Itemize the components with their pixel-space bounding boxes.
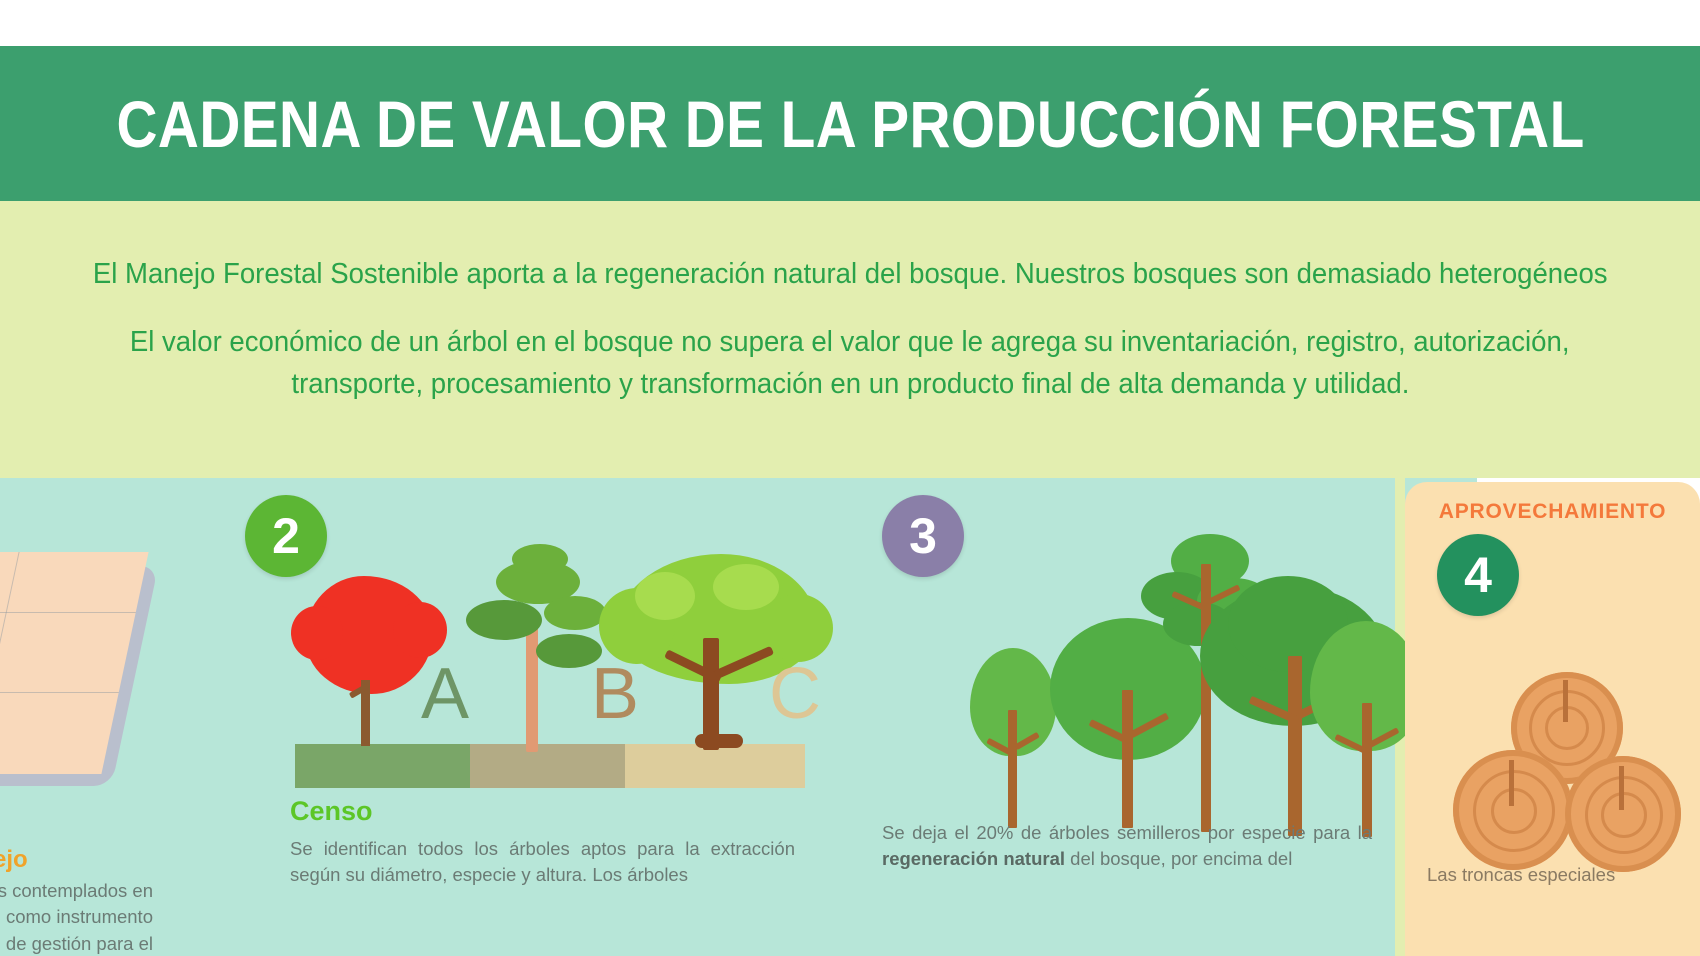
tree-a-crown bbox=[305, 576, 433, 694]
step-3-body-line-2: del bosque, por encima del bbox=[1065, 848, 1292, 869]
forest-cluster-illustration bbox=[860, 526, 1405, 826]
log-round bbox=[1453, 750, 1573, 870]
intro-paragraph-2-line-2: transporte, procesamiento y transformaci… bbox=[0, 363, 1700, 405]
forest-tree-trunk bbox=[1122, 690, 1133, 828]
step-3-body-highlight: regeneración natural bbox=[882, 848, 1065, 869]
intro-paragraph-2-line-1-text: El valor económico de un árbol en el bos… bbox=[130, 321, 1570, 363]
stacked-logs-illustration bbox=[1453, 672, 1700, 852]
step-1-title: Plan de Manejo bbox=[0, 846, 28, 874]
log-ring bbox=[1601, 792, 1647, 838]
intro-paragraph-1-text: El Manejo Forestal Sostenible aporta a l… bbox=[93, 253, 1608, 295]
title-banner: CADENA DE VALOR DE LA PRODUCCIÓN FORESTA… bbox=[0, 46, 1700, 201]
log-ring bbox=[1491, 788, 1537, 834]
log-round bbox=[1565, 756, 1681, 872]
step-3-body-line-1: Se deja el 20% de árboles semilleros por… bbox=[882, 822, 1372, 843]
page-title-text: CADENA DE VALOR DE LA PRODUCCIÓN FORESTA… bbox=[117, 86, 1585, 162]
step-4-header: APROVECHAMIENTO bbox=[1405, 500, 1700, 524]
plot-grid-line bbox=[0, 552, 20, 774]
step-3-body: Se deja el 20% de árboles semilleros por… bbox=[882, 820, 1372, 873]
step-4-body: Las troncas especiales bbox=[1427, 862, 1685, 888]
intro-spacer bbox=[0, 295, 1700, 321]
plot-grid-line bbox=[0, 612, 136, 613]
step-4-body-line-2: especiales bbox=[1528, 864, 1615, 885]
page-title: CADENA DE VALOR DE LA PRODUCCIÓN FORESTA… bbox=[0, 86, 1700, 162]
intro-paragraph-2-line-2-text: transporte, procesamiento y transformaci… bbox=[291, 363, 1409, 405]
tree-b-foliage bbox=[544, 596, 606, 630]
log-crack bbox=[1509, 760, 1514, 806]
tree-b-trunk bbox=[526, 616, 538, 752]
forest-tree-trunk bbox=[1008, 710, 1017, 828]
three-trees-illustration: A B C bbox=[245, 538, 815, 788]
step-4-badge: 4 bbox=[1437, 534, 1519, 616]
step-4-aprovechamiento-card[interactable]: APROVECHAMIENTO 4 Las troncas especiales bbox=[1405, 482, 1700, 956]
plot-map-illustration bbox=[0, 500, 205, 800]
plot-grid-line bbox=[0, 692, 119, 693]
intro-paragraph-1: El Manejo Forestal Sostenible aporta a l… bbox=[0, 253, 1700, 295]
step-2-body: Se identifican todos los árboles aptos p… bbox=[290, 836, 795, 889]
forest-tree bbox=[970, 648, 1060, 828]
step-2-censo[interactable]: 2 A B bbox=[245, 478, 815, 956]
tree-c-root bbox=[695, 734, 743, 748]
log-crack bbox=[1563, 680, 1568, 722]
forest-tree-trunk bbox=[1288, 656, 1302, 836]
log-crack bbox=[1619, 766, 1624, 810]
ground-band-a bbox=[295, 744, 470, 788]
step-1-body-line-2: Forestal como instrumento técnico de ges… bbox=[0, 906, 153, 953]
infographic-canvas: CADENA DE VALOR DE LA PRODUCCIÓN FORESTA… bbox=[0, 0, 1700, 956]
tree-b-foliage bbox=[512, 544, 568, 574]
forest-tree-trunk bbox=[1362, 703, 1372, 837]
step-4-body-line-1: Las troncas bbox=[1427, 864, 1523, 885]
step-1-plan-de-manejo[interactable]: Plan de Manejo Son los requisitos contem… bbox=[0, 478, 205, 956]
intro-paragraph-2-line-1: El valor económico de un árbol en el bos… bbox=[0, 321, 1700, 363]
step-1-body: Son los requisitos contemplados en la Le… bbox=[0, 878, 153, 956]
tree-c-highlight bbox=[713, 564, 779, 610]
intro-band: El Manejo Forestal Sostenible aporta a l… bbox=[0, 201, 1700, 478]
step-2-title: Censo bbox=[290, 796, 373, 827]
tree-label-c: C bbox=[769, 658, 821, 730]
top-white-strip bbox=[0, 0, 1700, 46]
intro-text-block: El Manejo Forestal Sostenible aporta a l… bbox=[0, 253, 1700, 405]
tree-c-highlight bbox=[635, 572, 695, 620]
step-2-body-line-1: Se identifican todos los árboles aptos p… bbox=[290, 838, 795, 859]
step-2-body-line-2: según su diámetro, especie y altura. Los… bbox=[290, 864, 688, 885]
tree-b-foliage bbox=[466, 600, 542, 640]
step-3-semilleros[interactable]: 3 bbox=[860, 478, 1405, 956]
